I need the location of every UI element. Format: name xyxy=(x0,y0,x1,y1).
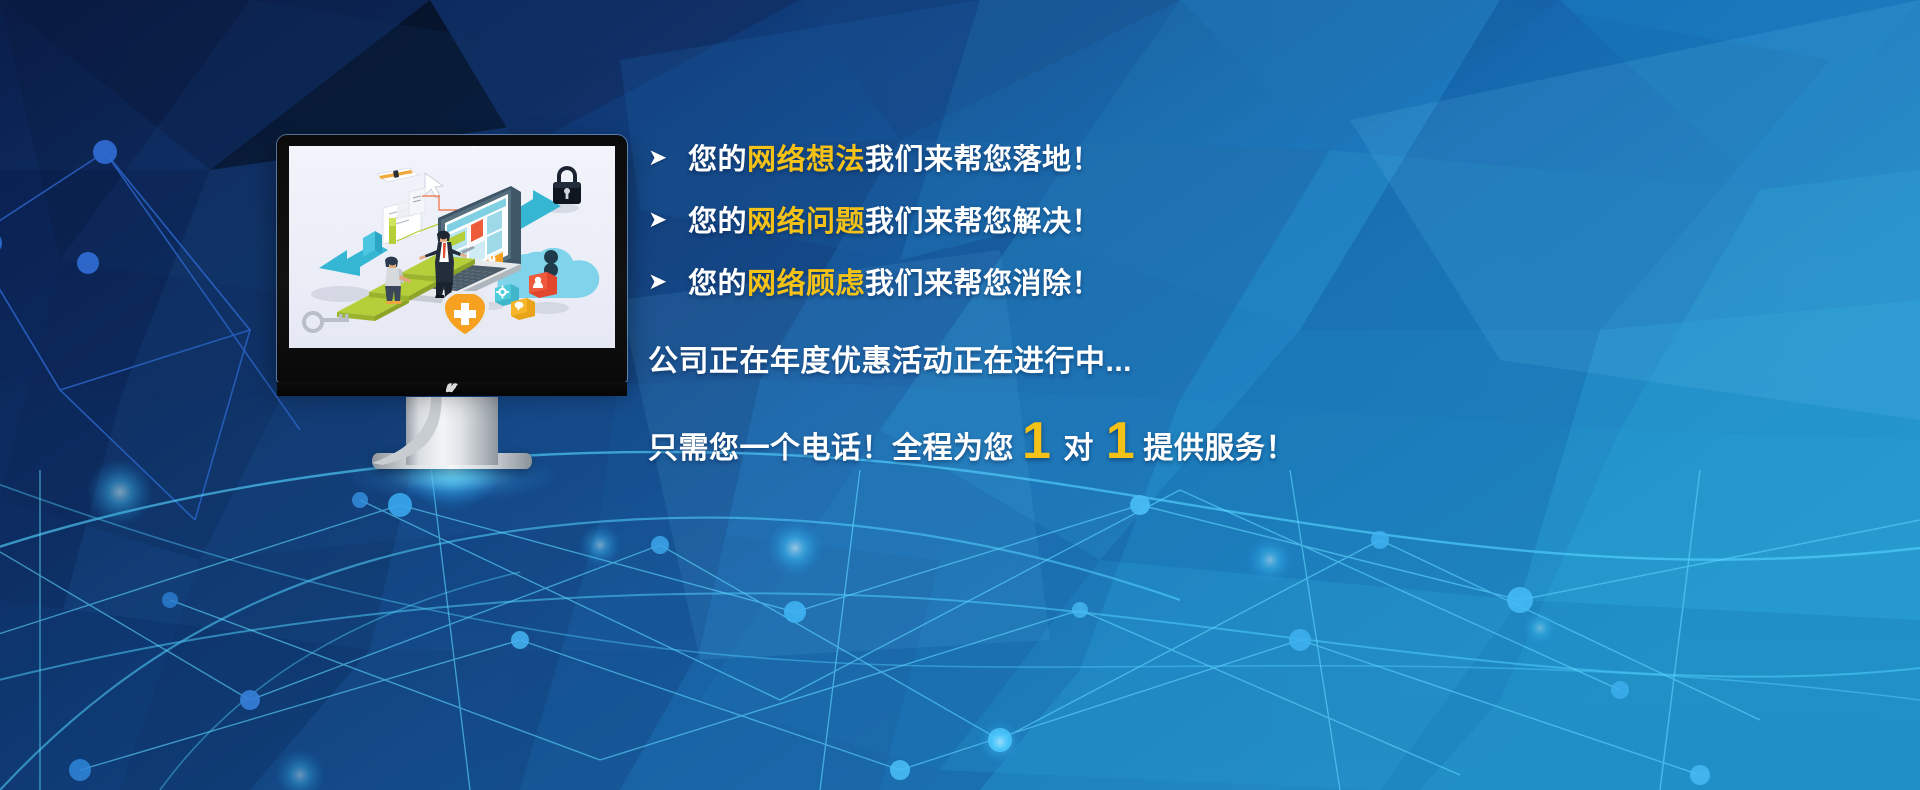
promo-number-first: 1 xyxy=(1014,418,1059,465)
promo-line-2: 只需您一个电话！全程为您 1 对 1 提供服务！ xyxy=(648,418,1408,467)
arrow-bullet-icon: ➤ xyxy=(648,270,688,293)
promo-part-2: 提供服务！ xyxy=(1143,423,1296,467)
bullet-row-2: ➤ 您的网络问题我们来帮您解决！ xyxy=(648,188,1408,250)
bullet-highlight-3: 网络顾虑 xyxy=(747,268,865,300)
bullet-highlight-1: 网络想法 xyxy=(747,144,865,176)
promo-middle-word: 对 xyxy=(1059,423,1098,467)
promo-line-1: 公司正在年度优惠活动正在进行中... xyxy=(648,336,1408,380)
arrow-bullet-icon: ➤ xyxy=(648,146,688,169)
arrow-bullet-icon: ➤ xyxy=(648,208,688,231)
bullet-suffix-3: 我们来帮您消除！ xyxy=(865,268,1101,300)
bullet-suffix-2: 我们来帮您解决！ xyxy=(865,206,1101,238)
bullet-suffix-1: 我们来帮您落地！ xyxy=(865,144,1101,176)
bullet-text-3: 您的网络顾虑我们来帮您消除！ xyxy=(688,260,1101,302)
monitor-bezel xyxy=(277,135,627,382)
chat-app-icon xyxy=(511,298,535,320)
apple-logo xyxy=(446,383,458,396)
promo-block: 公司正在年度优惠活动正在进行中... 只需您一个电话！全程为您 1 对 1 提供… xyxy=(648,336,1408,467)
copy-block: ➤ 您的网络想法我们来帮您落地！ ➤ 您的网络问题我们来帮您解决！ ➤ 您的网络… xyxy=(648,126,1408,467)
promo-part-1: 只需您一个电话！全程为您 xyxy=(648,423,1014,467)
bullet-prefix-1: 您的 xyxy=(688,144,747,176)
bullet-text-2: 您的网络问题我们来帮您解决！ xyxy=(688,198,1101,240)
monitor-display xyxy=(277,135,627,445)
monitor-neck xyxy=(406,397,498,465)
monitor-screen xyxy=(289,146,615,348)
bullet-row-3: ➤ 您的网络顾虑我们来帮您消除！ xyxy=(648,250,1408,312)
user-app-icon xyxy=(529,272,557,298)
bullet-row-1: ➤ 您的网络想法我们来帮您落地！ xyxy=(648,126,1408,188)
bullet-prefix-2: 您的 xyxy=(688,206,747,238)
bullet-highlight-2: 网络问题 xyxy=(747,206,865,238)
promo-number-second: 1 xyxy=(1098,418,1143,465)
bullet-text-1: 您的网络想法我们来帮您落地！ xyxy=(688,136,1101,178)
banner-root: ➤ 您的网络想法我们来帮您落地！ ➤ 您的网络问题我们来帮您解决！ ➤ 您的网络… xyxy=(0,0,1920,790)
isometric-network-security-illustration xyxy=(289,146,615,348)
bullet-prefix-3: 您的 xyxy=(688,268,747,300)
